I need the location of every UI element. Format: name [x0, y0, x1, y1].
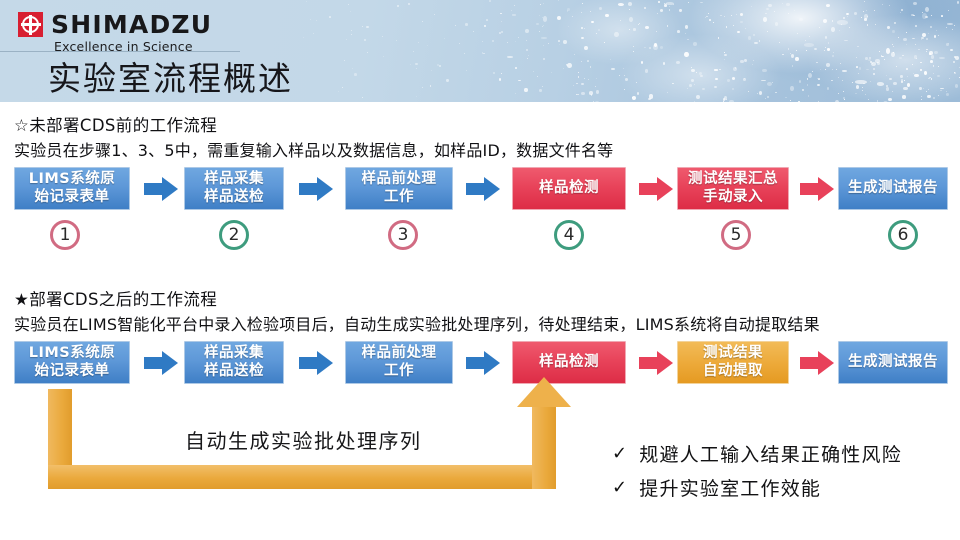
flow-box-after-1[interactable]: LIMS系统原 始记录表单 — [14, 341, 130, 384]
step-marker-3: 3 — [388, 220, 418, 250]
benefit-item-1-label: 规避人工输入结果正确性风险 — [639, 440, 902, 467]
flow-box-after-1-line1: LIMS系统原 — [29, 345, 116, 362]
flow-box-after-4-line1: 样品检测 — [539, 354, 599, 371]
flow-box-after-5-line2: 自动提取 — [703, 363, 763, 380]
flow-box-after-5[interactable]: 测试结果 自动提取 — [677, 341, 789, 384]
section-before-heading: ☆未部署CDS前的工作流程 — [14, 112, 217, 136]
benefit-item-2: ✓ 提升实验室工作效能 — [612, 474, 821, 501]
slide-footer-bar — [0, 530, 960, 540]
check-icon: ✓ — [612, 445, 628, 463]
arrow-after-2-3 — [299, 351, 333, 375]
flow-box-before-2-line1: 样品采集 — [204, 171, 264, 188]
step-marker-4: 4 — [554, 220, 584, 250]
flow-box-after-1-line2: 始记录表单 — [35, 363, 110, 380]
step-marker-2: 2 — [219, 220, 249, 250]
flow-box-before-2-line2: 样品送检 — [204, 189, 264, 206]
loop-arrow-label: 自动生成实验批处理序列 — [185, 425, 422, 454]
flow-box-after-5-line1: 测试结果 — [703, 345, 763, 362]
slide-canvas: SHIMADZU Excellence in Science 实验室流程概述 ☆… — [0, 0, 960, 540]
shimadzu-crossed-circle-icon — [18, 12, 43, 37]
step-marker-1: 1 — [50, 220, 80, 250]
page-title: 实验室流程概述 — [48, 52, 293, 100]
arrow-after-1-2 — [144, 351, 178, 375]
flow-box-after-2-line2: 样品送检 — [204, 363, 264, 380]
flow-box-after-6-line1: 生成测试报告 — [848, 354, 938, 371]
flow-box-before-3-line1: 样品前处理 — [362, 171, 437, 188]
flow-box-before-5[interactable]: 测试结果汇总 手动录入 — [677, 167, 789, 210]
arrow-after-5-6 — [800, 351, 834, 375]
loop-arrow-right-leg — [532, 405, 556, 489]
section-after-heading: ★部署CDS之后的工作流程 — [14, 286, 217, 310]
loop-arrow-bottom-leg — [48, 465, 552, 489]
flow-box-after-3-line1: 样品前处理 — [362, 345, 437, 362]
arrow-before-3-4 — [466, 177, 500, 201]
arrow-after-4-5 — [639, 351, 673, 375]
flow-box-after-3-line2: 工作 — [384, 363, 414, 380]
arrow-before-1-2 — [144, 177, 178, 201]
flow-box-before-1[interactable]: LIMS系统原 始记录表单 — [14, 167, 130, 210]
flow-box-before-2[interactable]: 样品采集 样品送检 — [184, 167, 284, 210]
arrow-before-4-5 — [639, 177, 673, 201]
slide-header: SHIMADZU Excellence in Science 实验室流程概述 — [0, 0, 960, 102]
step-marker-5: 5 — [721, 220, 751, 250]
flow-box-before-6-line1: 生成测试报告 — [848, 180, 938, 197]
arrow-after-3-4 — [466, 351, 500, 375]
benefit-item-2-label: 提升实验室工作效能 — [639, 474, 821, 501]
flow-box-before-6[interactable]: 生成测试报告 — [838, 167, 948, 210]
flow-box-before-4-line1: 样品检测 — [539, 180, 599, 197]
flow-box-before-5-line2: 手动录入 — [703, 189, 763, 206]
flow-box-before-1-line2: 始记录表单 — [35, 189, 110, 206]
section-after-subtext: 实验员在LIMS智能化平台中录入检验项目后，自动生成实验批处理序列，待处理结束，… — [14, 311, 820, 335]
step-marker-6: 6 — [888, 220, 918, 250]
loop-arrow-head-icon — [517, 377, 571, 407]
flow-box-before-5-line1: 测试结果汇总 — [688, 171, 778, 188]
shimadzu-logo: SHIMADZU — [18, 12, 212, 37]
arrow-before-5-6 — [800, 177, 834, 201]
logo-wordmark: SHIMADZU — [51, 12, 212, 37]
flow-box-before-1-line1: LIMS系统原 — [29, 171, 116, 188]
flow-box-before-3[interactable]: 样品前处理 工作 — [345, 167, 453, 210]
flow-box-after-2-line1: 样品采集 — [204, 345, 264, 362]
flow-box-after-2[interactable]: 样品采集 样品送检 — [184, 341, 284, 384]
arrow-before-2-3 — [299, 177, 333, 201]
section-before-subtext: 实验员在步骤1、3、5中，需重复输入样品以及数据信息，如样品ID，数据文件名等 — [14, 137, 613, 161]
flow-box-after-3[interactable]: 样品前处理 工作 — [345, 341, 453, 384]
check-icon: ✓ — [612, 479, 628, 497]
flow-box-after-6[interactable]: 生成测试报告 — [838, 341, 948, 384]
benefit-item-1: ✓ 规避人工输入结果正确性风险 — [612, 440, 902, 467]
flow-box-before-4[interactable]: 样品检测 — [512, 167, 626, 210]
flow-box-before-3-line2: 工作 — [384, 189, 414, 206]
